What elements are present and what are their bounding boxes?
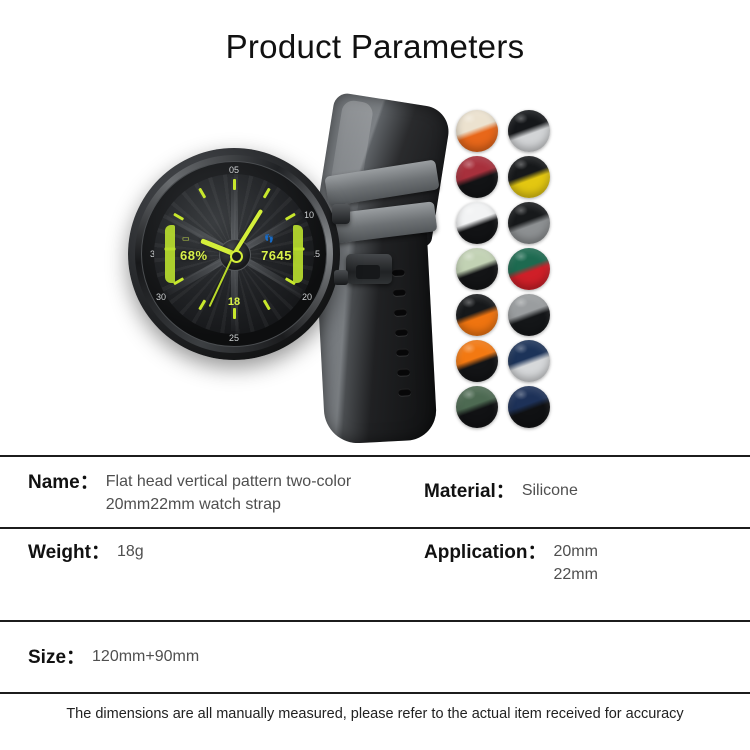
color-swatch-black-gray[interactable]	[508, 202, 550, 244]
bezel-number: 25	[229, 333, 239, 343]
strap-clasp	[346, 254, 392, 284]
size-label: Size：	[28, 645, 85, 671]
table-divider	[0, 620, 750, 622]
strap-hole	[398, 388, 411, 396]
color-swatch-navy-black[interactable]	[508, 386, 550, 428]
color-swatch-navy-silver[interactable]	[508, 340, 550, 382]
battery-gauge-arc	[165, 225, 175, 283]
strap-hole	[394, 308, 407, 316]
application-label: Application：	[424, 540, 546, 566]
watch-dial: ▭ 68% 👣 7645 18	[154, 174, 314, 334]
hands-pivot	[230, 250, 243, 263]
color-variant-grid[interactable]	[456, 110, 560, 428]
strap-hole	[397, 368, 410, 376]
strap-hole	[392, 268, 405, 276]
application-value-line2: 22mm	[553, 563, 597, 586]
color-swatch-darkgreen-black[interactable]	[456, 386, 498, 428]
hour-marker	[262, 299, 270, 310]
material-value: Silicone	[522, 479, 578, 502]
color-swatch-black-orange[interactable]	[456, 294, 498, 336]
hour-marker	[262, 188, 270, 199]
hour-marker	[198, 188, 206, 199]
product-image-area: 05 10 15 20 25 30 35	[0, 96, 750, 441]
battery-readout: 68%	[180, 248, 208, 263]
name-value: Flat head vertical pattern two-color 20m…	[106, 470, 351, 516]
color-swatch-gray-black[interactable]	[508, 294, 550, 336]
material-label: Material：	[424, 479, 515, 505]
color-swatch-black-yellow[interactable]	[508, 156, 550, 198]
application-value: 20mm 22mm	[553, 540, 597, 586]
table-divider	[0, 692, 750, 694]
strap-hole	[396, 348, 409, 356]
name-value-line2: 20mm22mm watch strap	[106, 493, 351, 516]
weight-label: Weight：	[28, 540, 110, 566]
size-value: 120mm+90mm	[92, 645, 199, 668]
steps-gauge-arc	[293, 225, 303, 283]
steps-readout: 7645	[261, 248, 292, 263]
color-swatch-orange-cream[interactable]	[456, 110, 498, 152]
strap-hole	[393, 288, 406, 296]
smartwatch-product-photo: 05 10 15 20 25 30 35	[128, 104, 458, 434]
application-value-line1: 20mm	[553, 540, 597, 563]
watch-body: 05 10 15 20 25 30 35	[128, 148, 340, 360]
watch-pusher-button	[334, 270, 348, 285]
color-swatch-black-white[interactable]	[508, 110, 550, 152]
footsteps-icon: 👣	[264, 234, 274, 243]
color-swatch-orange-black[interactable]	[456, 340, 498, 382]
color-swatch-sage-black[interactable]	[456, 248, 498, 290]
hour-marker	[233, 308, 236, 319]
table-divider	[0, 455, 750, 457]
measurement-disclaimer: The dimensions are all manually measured…	[0, 706, 750, 722]
name-label: Name：	[28, 470, 99, 496]
strap-hole	[395, 328, 408, 336]
battery-icon: ▭	[182, 234, 190, 243]
color-swatch-green-red[interactable]	[508, 248, 550, 290]
color-swatch-red-black[interactable]	[456, 156, 498, 198]
page-title: Product Parameters	[0, 28, 750, 66]
hour-marker	[198, 299, 206, 310]
name-value-line1: Flat head vertical pattern two-color	[106, 470, 351, 493]
watch-crown	[332, 204, 350, 224]
date-readout: 18	[228, 296, 240, 308]
color-swatch-white-black[interactable]	[456, 202, 498, 244]
hour-marker	[233, 179, 236, 190]
weight-value: 18g	[117, 540, 144, 563]
table-divider	[0, 527, 750, 529]
